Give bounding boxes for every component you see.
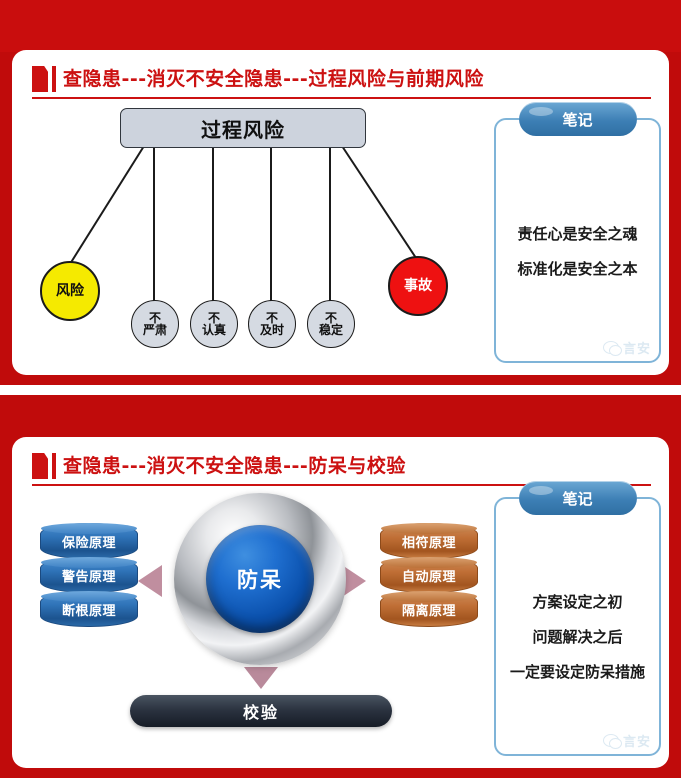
title-underline bbox=[32, 97, 651, 99]
watermark: 言安 bbox=[603, 731, 651, 750]
cylinder-isolation-principle: 隔离原理 bbox=[380, 591, 478, 627]
title-accent-bar bbox=[52, 66, 56, 92]
right-principle-stack: 相符原理 自动原理 隔离原理 bbox=[380, 523, 476, 625]
slide-1-title-row: 查隐患---消灭不安全隐患---过程风险与前期风险 bbox=[32, 62, 651, 96]
cylinder-insurance-principle: 保险原理 bbox=[40, 523, 138, 559]
notes-line: 责任心是安全之魂 bbox=[517, 223, 637, 244]
cylinder-label: 警告原理 bbox=[62, 566, 116, 585]
notes-line: 一定要设定防呆措施 bbox=[510, 661, 645, 682]
cylinder-label: 保险原理 bbox=[62, 532, 116, 551]
notes-tab[interactable]: 笔记 bbox=[519, 102, 637, 136]
cylinder-warning-principle: 警告原理 bbox=[40, 557, 138, 593]
center-sphere: 防呆 bbox=[206, 525, 314, 633]
notes-line: 问题解决之后 bbox=[532, 626, 622, 647]
cylinder-label: 隔离原理 bbox=[402, 600, 456, 619]
top-box-process-risk: 过程风险 bbox=[120, 108, 366, 148]
node-not-serious: 不 严肃 bbox=[131, 300, 179, 348]
page-title: 查隐患---消灭不安全隐患---过程风险与前期风险 bbox=[63, 66, 484, 92]
notes-panel-1: 笔记 责任心是安全之魂 标准化是安全之本 言安 bbox=[494, 118, 661, 363]
slide-1-card: 查隐患---消灭不安全隐患---过程风险与前期风险 过程风险 风险 bbox=[12, 50, 669, 375]
slide-2: 查隐患---消灭不安全隐患---防呆与校验 保险原理 警告原理 断根原理 bbox=[0, 395, 681, 778]
watermark: 言安 bbox=[603, 338, 651, 357]
slide-2-top-band bbox=[0, 395, 681, 437]
node-not-serious-bottom: 严肃 bbox=[143, 324, 167, 336]
notes-body: 方案设定之初 问题解决之后 一定要设定防呆措施 bbox=[496, 527, 659, 746]
cylinder-label: 相符原理 bbox=[402, 532, 456, 551]
wechat-bubble-icon bbox=[603, 734, 620, 747]
node-not-timely-bottom: 及时 bbox=[260, 324, 284, 336]
center-label: 防呆 bbox=[237, 564, 283, 594]
poka-yoke-diagram: 保险原理 警告原理 断根原理 相符原理 自动原理 bbox=[22, 487, 482, 762]
arrow-down-icon bbox=[244, 667, 278, 689]
node-not-stable-bottom: 稳定 bbox=[319, 324, 343, 336]
watermark-label: 言安 bbox=[623, 731, 651, 750]
page-flag-icon bbox=[32, 66, 48, 92]
node-not-timely: 不 及时 bbox=[248, 300, 296, 348]
cylinder-label: 自动原理 bbox=[402, 566, 456, 585]
page-title: 查隐患---消灭不安全隐患---防呆与校验 bbox=[63, 453, 406, 479]
node-risk: 风险 bbox=[40, 261, 100, 321]
node-risk-label: 风险 bbox=[56, 284, 84, 298]
watermark-label: 言安 bbox=[623, 338, 651, 357]
center-ring: 防呆 bbox=[174, 493, 346, 665]
bottom-bar-verification: 校验 bbox=[130, 695, 392, 727]
slide-1-top-band bbox=[0, 0, 681, 52]
slide-2-title-row: 查隐患---消灭不安全隐患---防呆与校验 bbox=[32, 449, 651, 483]
node-not-stable: 不 稳定 bbox=[307, 300, 355, 348]
node-not-earnest: 不 认真 bbox=[190, 300, 238, 348]
cylinder-label: 断根原理 bbox=[62, 600, 116, 619]
slide-1: 查隐患---消灭不安全隐患---过程风险与前期风险 过程风险 风险 bbox=[0, 0, 681, 385]
node-not-earnest-bottom: 认真 bbox=[202, 324, 226, 336]
wechat-bubble-icon bbox=[603, 341, 620, 354]
node-accident: 事故 bbox=[388, 256, 448, 316]
notes-line: 方案设定之初 bbox=[532, 591, 622, 612]
slide-2-card: 查隐患---消灭不安全隐患---防呆与校验 保险原理 警告原理 断根原理 bbox=[12, 437, 669, 768]
title-accent-bar bbox=[52, 453, 56, 479]
notes-line: 标准化是安全之本 bbox=[517, 258, 637, 279]
slide-deck: 查隐患---消灭不安全隐患---过程风险与前期风险 过程风险 风险 bbox=[0, 0, 681, 778]
cylinder-root-removal-principle: 断根原理 bbox=[40, 591, 138, 627]
cylinder-matching-principle: 相符原理 bbox=[380, 523, 478, 559]
page-flag-icon bbox=[32, 453, 48, 479]
cylinder-automatic-principle: 自动原理 bbox=[380, 557, 478, 593]
notes-panel-2: 笔记 方案设定之初 问题解决之后 一定要设定防呆措施 言安 bbox=[494, 497, 661, 756]
arrow-left-icon bbox=[138, 565, 162, 597]
process-risk-diagram: 过程风险 风险 事故 不 严肃 不 认真 不 及时 bbox=[26, 106, 466, 356]
notes-body: 责任心是安全之魂 标准化是安全之本 bbox=[496, 148, 659, 353]
notes-tab[interactable]: 笔记 bbox=[519, 481, 637, 515]
left-principle-stack: 保险原理 警告原理 断根原理 bbox=[40, 523, 136, 625]
node-accident-label: 事故 bbox=[404, 279, 432, 293]
